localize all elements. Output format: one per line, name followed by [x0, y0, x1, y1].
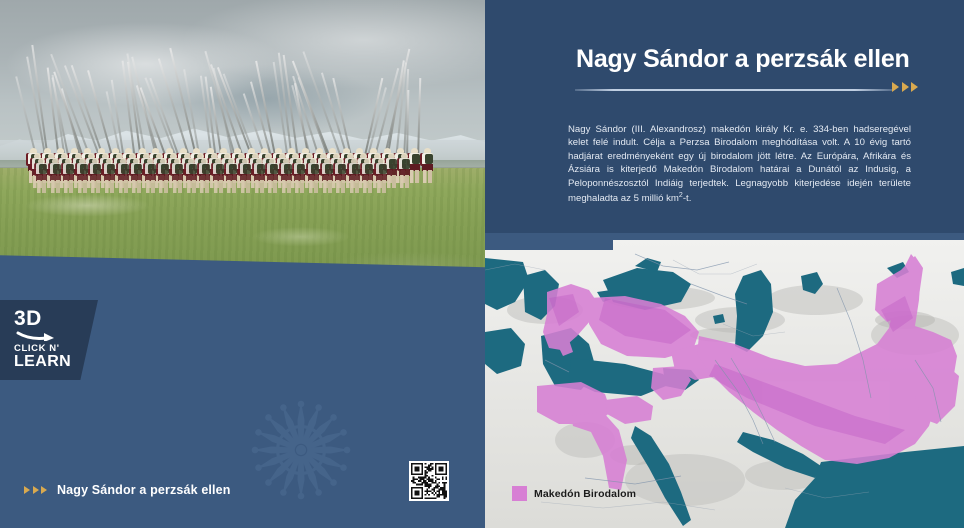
right-panel: Nagy Sándor a perzsák ellen Nagy Sándor … [485, 0, 964, 528]
legend-label-makedon: Makedón Birodalom [534, 488, 636, 500]
phalanx-photo [0, 0, 485, 288]
logo-learn-text: LEARN [14, 354, 88, 371]
body-text-tail: -t. [683, 193, 692, 204]
title-arrows-icon [892, 82, 918, 92]
photo-soldiers [28, 148, 448, 203]
body-text-main: Nagy Sándor (III. Alexandrosz) makedón k… [568, 124, 911, 204]
left-panel: 3D CLICK N' LEARN Nagy Sándor a perzsák … [0, 0, 485, 528]
logo-3d-text: 3D [14, 308, 88, 329]
footer-arrows-icon [24, 486, 47, 494]
footer-title: Nagy Sándor a perzsák ellen [57, 483, 231, 497]
title-rule [575, 89, 893, 91]
page-title: Nagy Sándor a perzsák ellen [576, 45, 956, 74]
map-top-strip [485, 233, 964, 240]
body-paragraph: Nagy Sándor (III. Alexandrosz) makedón k… [568, 123, 911, 206]
curved-arrow-icon [16, 330, 60, 341]
vergina-sun-icon [223, 372, 379, 528]
map-graphic [485, 240, 964, 528]
brand-logo[interactable]: 3D CLICK N' LEARN [14, 308, 88, 370]
qr-code[interactable] [409, 461, 449, 501]
slide-root: 3D CLICK N' LEARN Nagy Sándor a perzsák … [0, 0, 964, 528]
map-legend: Makedón Birodalom [512, 486, 636, 501]
legend-swatch-makedon [512, 486, 527, 501]
footer: Nagy Sándor a perzsák ellen [24, 483, 231, 497]
empire-map [485, 240, 964, 528]
